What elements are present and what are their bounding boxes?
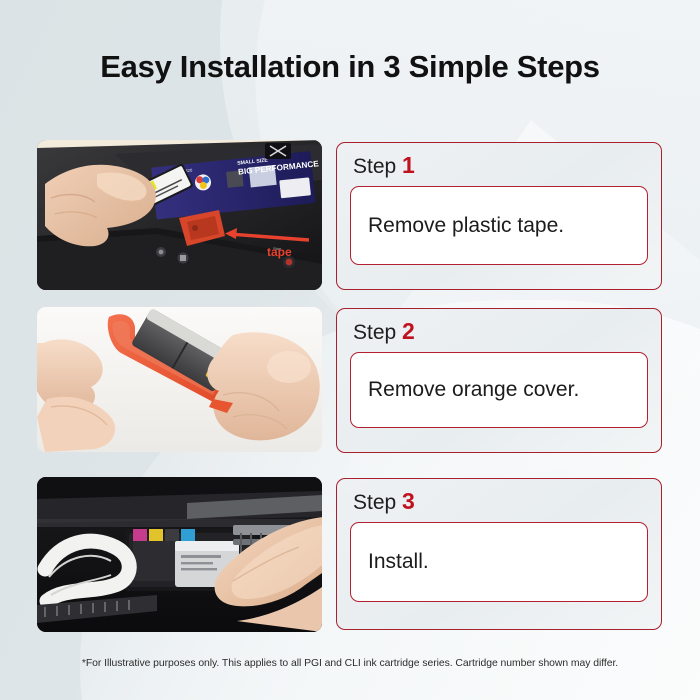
step-photo-3 [37,477,322,632]
step-3-instruction-box: Install. [350,522,648,602]
step-1-instruction-box: Remove plastic tape. [350,186,648,265]
step-1-number: 1 [402,152,415,178]
step-2-instruction: Remove orange cover. [368,378,579,402]
page-title: Easy Installation in 3 Simple Steps [0,49,700,85]
disclaimer-footnote: *For Illustrative purposes only. This ap… [0,658,700,669]
step-card-3: Step 3 Install. [336,478,662,630]
step-2-instruction-box: Remove orange cover. [350,352,648,428]
step-3-instruction: Install. [368,550,429,574]
step-2-heading: Step 2 [353,318,648,345]
step-card-2: Step 2 Remove orange cover. [336,308,662,453]
step-2-label: Step [353,321,396,344]
step-photo-1: PIXMA TS5320 SMALL SIZE BIG PERFORMANCE [37,140,322,290]
step-1-instruction: Remove plastic tape. [368,214,564,238]
step-1-label: Step [353,155,396,178]
step-card-1: Step 1 Remove plastic tape. [336,142,662,290]
step-3-heading: Step 3 [353,488,648,515]
step-photo-2 [37,307,322,452]
step-1-heading: Step 1 [353,152,648,179]
step-3-number: 3 [402,488,415,514]
step-2-number: 2 [402,318,415,344]
svg-text:tape: tape [267,245,292,259]
step-3-label: Step [353,491,396,514]
